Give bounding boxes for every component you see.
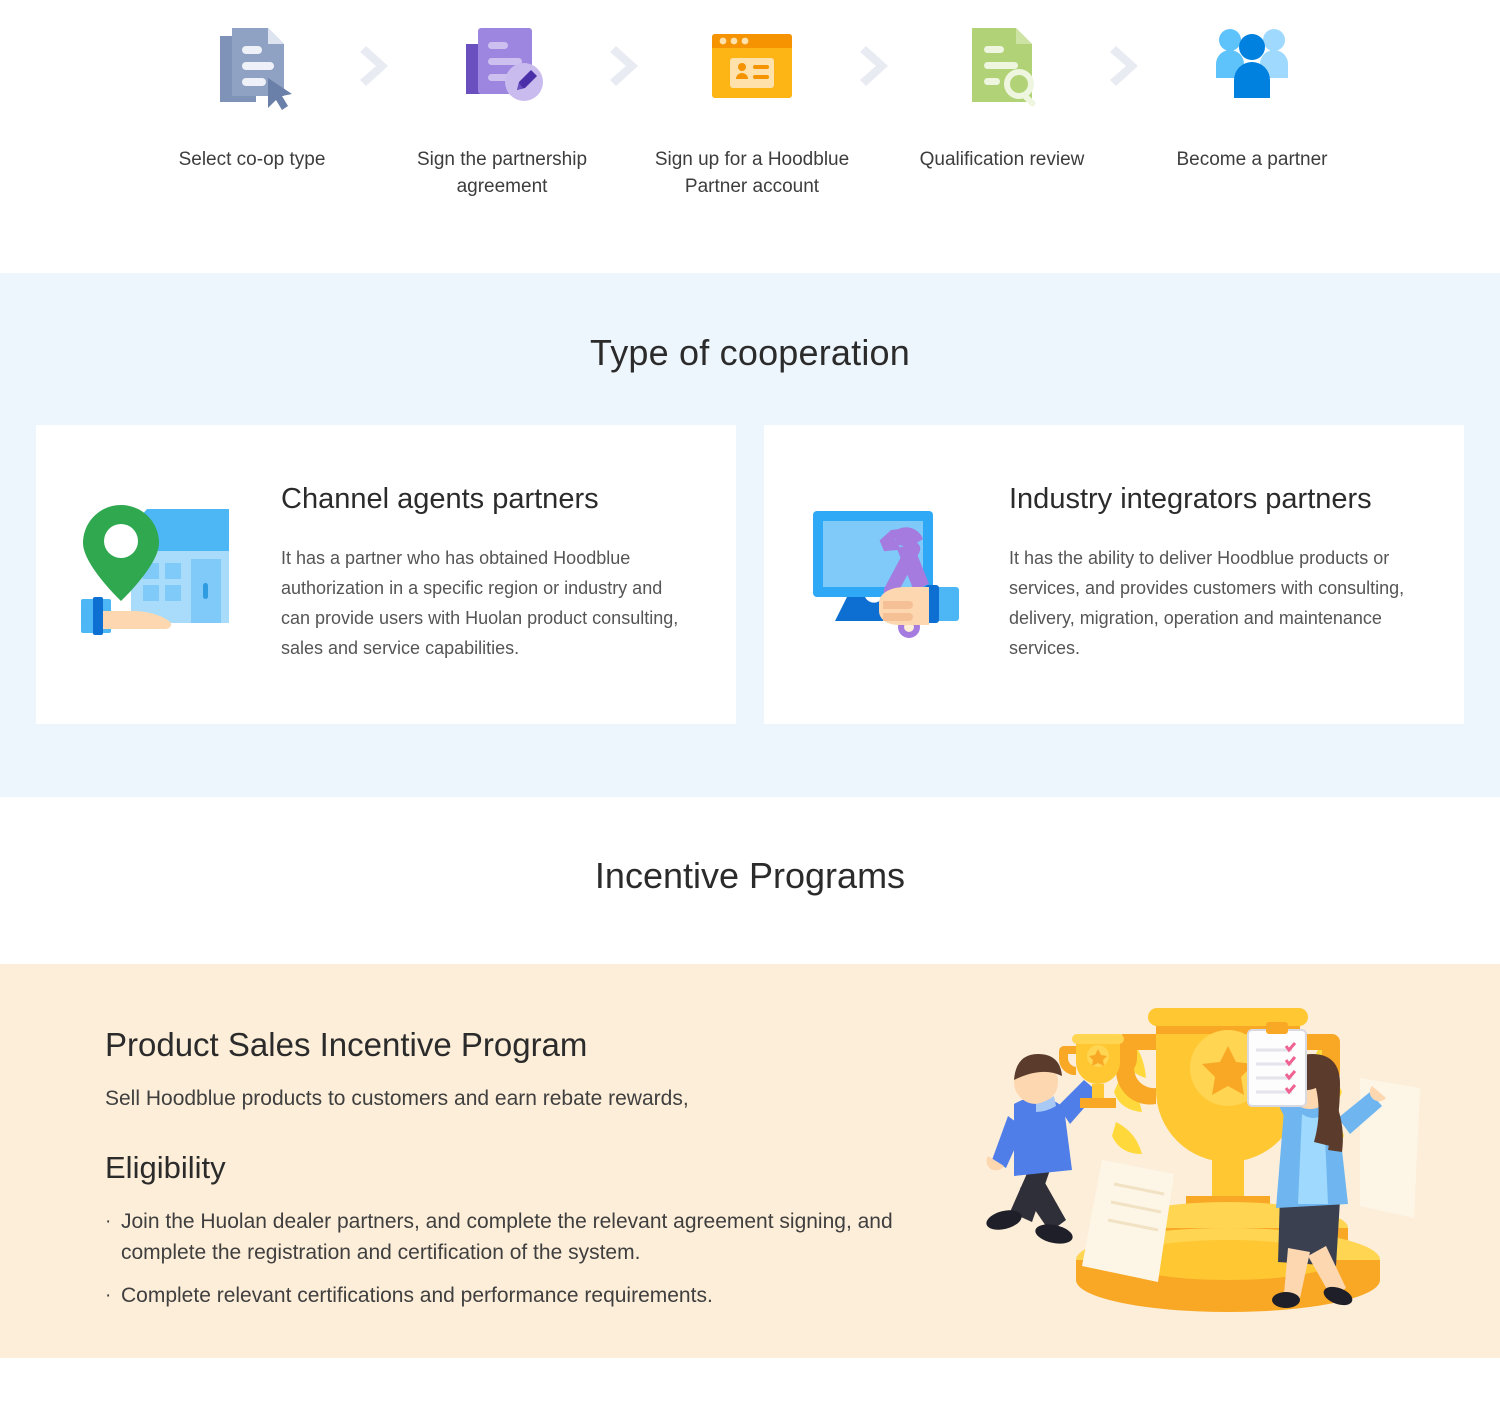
- eligibility-title: Eligibility: [105, 1148, 935, 1188]
- bullet-icon: ·: [105, 1206, 121, 1268]
- cooperation-card-description: It has the ability to deliver Hoodblue p…: [1009, 543, 1409, 663]
- process-step-label: Become a partner: [1137, 146, 1367, 173]
- browser-id-card-icon: [702, 16, 802, 116]
- process-step-label: Sign the partnership agreement: [387, 146, 617, 200]
- cooperation-card-title: Industry integrators partners: [1009, 481, 1409, 517]
- process-step-row: Select co-op type Sign the partnership a: [0, 0, 1500, 210]
- program-title: Product Sales Incentive Program: [105, 1024, 935, 1066]
- incentive-panel: Product Sales Incentive Program Sell Hoo…: [0, 964, 1500, 1358]
- process-step-qualification-review[interactable]: Qualification review: [918, 0, 1086, 173]
- trophy-celebration-icon: [980, 998, 1440, 1328]
- document-magnifier-icon: [952, 16, 1052, 116]
- incentive-title-section: Incentive Programs: [0, 797, 1500, 964]
- process-step-label: Select co-op type: [137, 146, 367, 173]
- chevron-right-icon: [586, 16, 668, 116]
- process-step-signup-account[interactable]: Sign up for a Hoodblue Partner account: [668, 0, 836, 200]
- process-step-label: Qualification review: [887, 146, 1117, 173]
- cooperation-section-title: Type of cooperation: [0, 331, 1500, 375]
- document-cursor-icon: [202, 16, 302, 116]
- eligibility-list: · Join the Huolan dealer partners, and c…: [105, 1206, 935, 1311]
- cooperation-card-title: Channel agents partners: [281, 481, 681, 517]
- people-group-icon: [1202, 16, 1302, 116]
- program-subtitle: Sell Hoodblue products to customers and …: [105, 1084, 935, 1114]
- chevron-right-icon: [836, 16, 918, 116]
- eligibility-list-item: · Complete relevant certifications and p…: [105, 1280, 935, 1311]
- cooperation-card-industry-integrators[interactable]: Industry integrators partners It has the…: [764, 425, 1464, 724]
- cooperation-section: Type of cooperation: [0, 273, 1500, 797]
- chevron-right-icon: [1086, 16, 1168, 116]
- monitor-wrench-hand-icon: [764, 481, 1009, 643]
- cooperation-card-list: Channel agents partners It has a partner…: [36, 425, 1464, 724]
- cooperation-card-channel-agents[interactable]: Channel agents partners It has a partner…: [36, 425, 736, 724]
- eligibility-list-item: · Join the Huolan dealer partners, and c…: [105, 1206, 935, 1268]
- process-step-sign-agreement[interactable]: Sign the partnership agreement: [418, 0, 586, 200]
- process-flow-section: Select co-op type Sign the partnership a: [0, 0, 1500, 273]
- process-step-select-co-op-type[interactable]: Select co-op type: [168, 0, 336, 173]
- chevron-right-icon: [336, 16, 418, 116]
- incentive-section-title: Incentive Programs: [0, 854, 1500, 898]
- incentive-copy-block: Product Sales Incentive Program Sell Hoo…: [105, 1024, 935, 1323]
- cooperation-card-description: It has a partner who has obtained Hoodbl…: [281, 543, 681, 663]
- process-step-label: Sign up for a Hoodblue Partner account: [637, 146, 867, 200]
- eligibility-item-text: Join the Huolan dealer partners, and com…: [121, 1206, 911, 1268]
- document-pencil-icon: [452, 16, 552, 116]
- eligibility-item-text: Complete relevant certifications and per…: [121, 1280, 713, 1311]
- bullet-icon: ·: [105, 1280, 121, 1311]
- map-pin-storefront-icon: [36, 481, 281, 643]
- process-step-become-partner[interactable]: Become a partner: [1168, 0, 1336, 173]
